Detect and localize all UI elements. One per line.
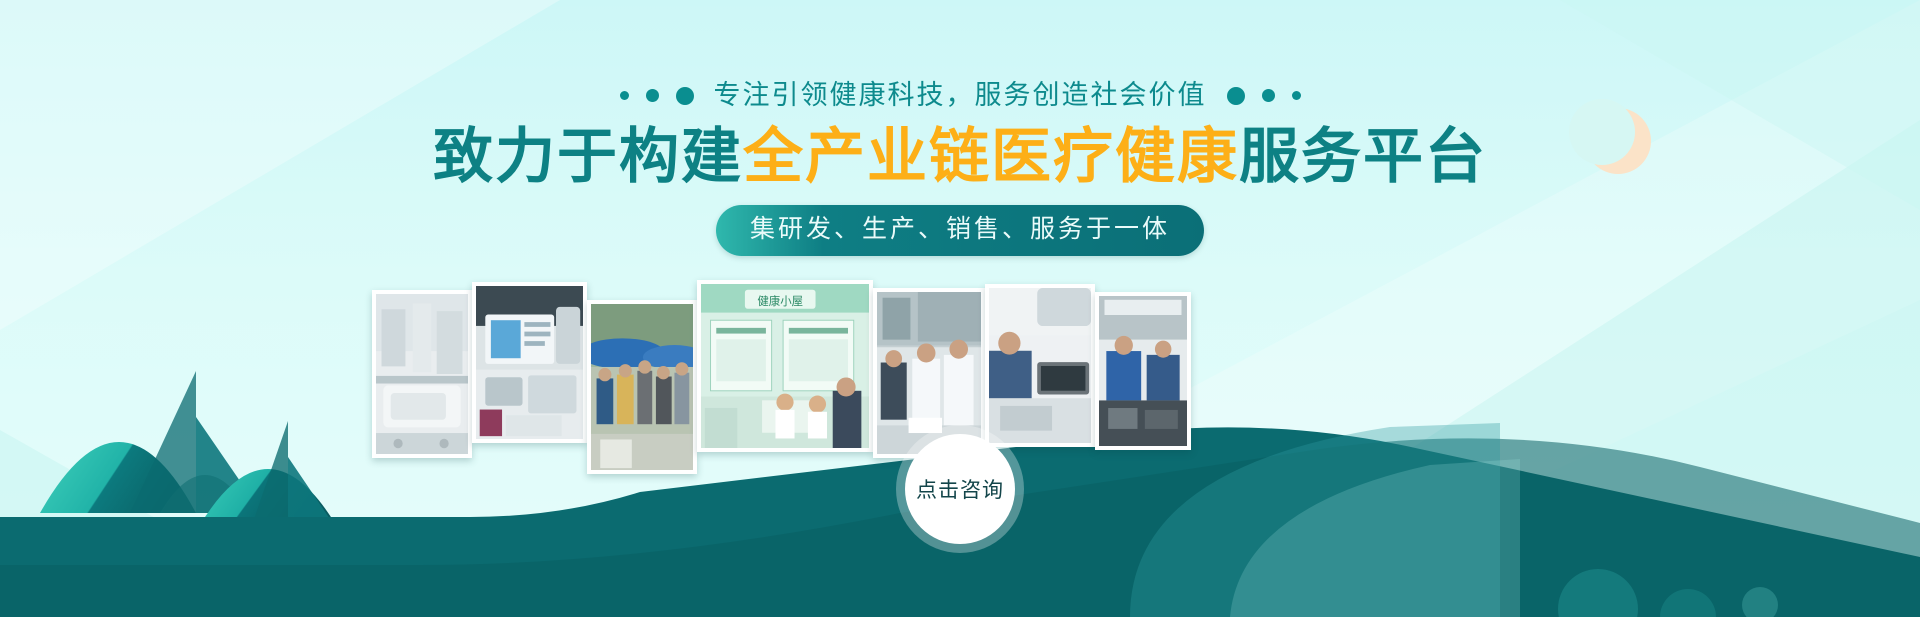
tagline-pill: 集研发、生产、销售、服务于一体 bbox=[716, 205, 1204, 256]
medium-dot-icon bbox=[1262, 89, 1275, 102]
photo-screening-device bbox=[472, 282, 587, 443]
promo-banner: 专注引领健康科技，服务创造社会价值 致力于构建全产业链医疗健康服务平台 集研发、… bbox=[0, 0, 1920, 617]
small-dot-icon bbox=[620, 91, 629, 100]
photo-mobile-unit bbox=[1095, 292, 1191, 450]
large-dot-icon bbox=[676, 87, 694, 105]
title-segment-3: 服务平台 bbox=[1239, 123, 1487, 190]
photo-health-booth: 健康小屋 bbox=[697, 280, 873, 452]
title-segment-2: 全产业链医疗健康 bbox=[743, 123, 1239, 190]
photo-lab-equipment bbox=[372, 290, 472, 458]
subtitle-row: 专注引领健康科技，服务创造社会价值 bbox=[0, 82, 1920, 109]
photo-outdoor-clinic bbox=[587, 300, 697, 474]
large-dot-icon bbox=[1227, 87, 1245, 105]
medium-dot-icon bbox=[646, 89, 659, 102]
banner-title: 致力于构建全产业链医疗健康服务平台 bbox=[0, 122, 1920, 191]
small-dot-icon bbox=[1292, 91, 1301, 100]
photo-strip: 健康小屋 bbox=[372, 278, 1191, 474]
decorative-dots-left bbox=[620, 87, 694, 105]
decorative-dots-right bbox=[1227, 87, 1301, 105]
title-segment-1: 致力于构建 bbox=[433, 123, 743, 190]
svg-text:健康小屋: 健康小屋 bbox=[757, 294, 803, 308]
consult-cta-button[interactable]: 点击咨询 bbox=[905, 434, 1015, 544]
photo-field-staff bbox=[873, 288, 985, 458]
banner-subtitle: 专注引领健康科技，服务创造社会价值 bbox=[714, 82, 1207, 109]
photo-operator-console bbox=[985, 284, 1095, 447]
